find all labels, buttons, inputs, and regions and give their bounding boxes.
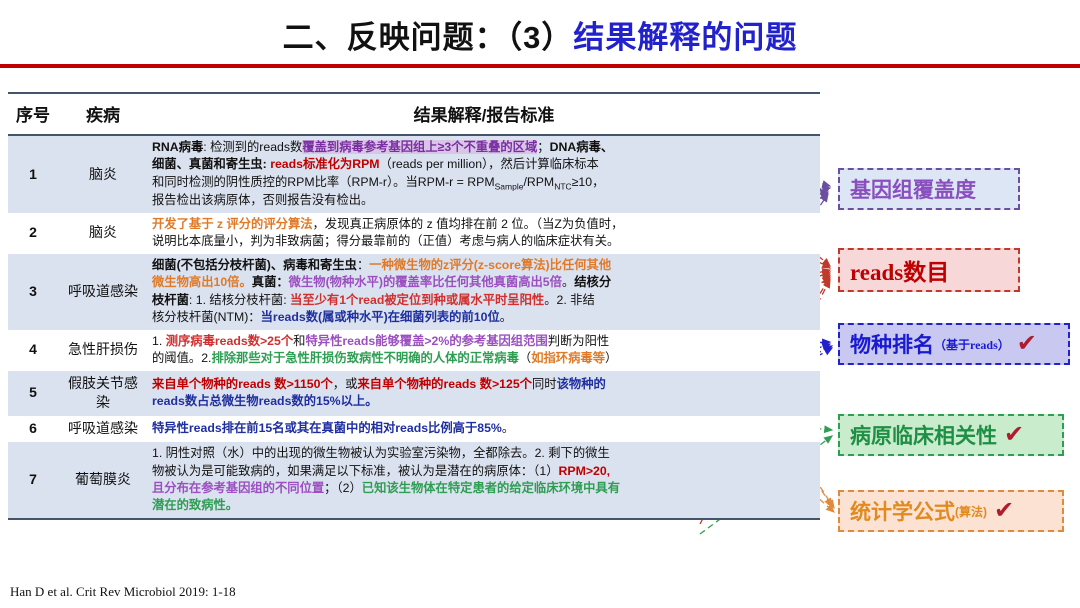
table-row: 6 呼吸道感染 特异性reads排在前15名或其在真菌中的相对reads比例高于… bbox=[8, 416, 820, 442]
header-criteria: 结果解释/报告标准 bbox=[148, 93, 820, 135]
citation-text: Han D et al. Crit Rev Microbiol 2019: 1-… bbox=[10, 584, 236, 600]
page-title-blue: 结果解释的问题 bbox=[573, 20, 797, 55]
header-disease: 疾病 bbox=[58, 93, 148, 135]
check-icon: ✔ bbox=[1017, 332, 1037, 356]
callout-label: 物种排名 bbox=[850, 329, 934, 359]
callout-statistical-formula[interactable]: 统计学公式 (算法) ✔ bbox=[838, 490, 1064, 532]
table-row: 3 呼吸道感染 细菌(不包括分枝杆菌)、病毒和寄生虫：一种微生物的z评分(z-s… bbox=[8, 254, 820, 330]
callout-label: 基因组覆盖度 bbox=[850, 174, 976, 204]
row-number: 2 bbox=[8, 213, 58, 254]
row-number: 1 bbox=[8, 135, 58, 213]
callout-reads-count[interactable]: reads数目 bbox=[838, 248, 1020, 292]
callout-suffix: （基于reads） bbox=[934, 336, 1010, 353]
row-number: 3 bbox=[8, 254, 58, 330]
callout-clinical-relevance[interactable]: 病原临床相关性 ✔ bbox=[838, 414, 1064, 456]
header-num: 序号 bbox=[8, 93, 58, 135]
callout-label: 病原临床相关性 bbox=[850, 420, 997, 450]
row-disease: 急性肝损伤 bbox=[58, 330, 148, 371]
row-number: 6 bbox=[8, 416, 58, 442]
table-row: 4 急性肝损伤 1. 测序病毒reads数>25个和特异性reads能够覆盖>2… bbox=[8, 330, 820, 371]
callout-label: reads数目 bbox=[850, 253, 949, 287]
table-row: 7 葡萄膜炎 1. 阴性对照（水）中的出现的微生物被认为实验室污染物，全都除去。… bbox=[8, 442, 820, 519]
page-header: 二、反映问题：（3）结果解释的问题 bbox=[0, 8, 1080, 60]
row-number: 5 bbox=[8, 371, 58, 417]
row-criteria: 开发了基于 z 评分的评分算法，发现真正病原体的 z 值均排在前 2 位。（当Z… bbox=[148, 213, 820, 254]
row-disease: 呼吸道感染 bbox=[58, 254, 148, 330]
row-criteria: RNA病毒: 检测到的reads数覆盖到病毒参考基因组上≥3个不重叠的区域；DN… bbox=[148, 135, 820, 213]
header-row: 序号 疾病 结果解释/报告标准 bbox=[8, 93, 820, 135]
callout-species-ranking[interactable]: 物种排名 （基于reads） ✔ bbox=[838, 323, 1070, 365]
table-row: 5 假肢关节感染 来自单个物种的reads 数>1150个，或来自单个物种的re… bbox=[8, 371, 820, 417]
row-disease: 葡萄膜炎 bbox=[58, 442, 148, 519]
row-number: 4 bbox=[8, 330, 58, 371]
table-row: 2 脑炎 开发了基于 z 评分的评分算法，发现真正病原体的 z 值均排在前 2 … bbox=[8, 213, 820, 254]
callout-label: 统计学公式 bbox=[850, 496, 955, 526]
check-icon: ✔ bbox=[994, 499, 1014, 523]
callout-suffix: (算法) bbox=[955, 503, 987, 520]
criteria-table-container: 序号 疾病 结果解释/报告标准 1 脑炎 RNA病毒: 检测到的reads数覆盖… bbox=[8, 92, 820, 520]
criteria-table: 序号 疾病 结果解释/报告标准 1 脑炎 RNA病毒: 检测到的reads数覆盖… bbox=[8, 92, 820, 520]
row-disease: 脑炎 bbox=[58, 135, 148, 213]
row-disease: 假肢关节感染 bbox=[58, 371, 148, 417]
row-criteria: 1. 测序病毒reads数>25个和特异性reads能够覆盖>2%的参考基因组范… bbox=[148, 330, 820, 371]
page-title-black: 二、反映问题：（3） bbox=[283, 20, 574, 55]
row-number: 7 bbox=[8, 442, 58, 519]
row-criteria: 1. 阴性对照（水）中的出现的微生物被认为实验室污染物，全都除去。2. 剩下的微… bbox=[148, 442, 820, 519]
callout-genome-coverage[interactable]: 基因组覆盖度 bbox=[838, 168, 1020, 210]
title-divider-rule bbox=[0, 64, 1080, 68]
page-title: 二、反映问题：（3）结果解释的问题 bbox=[283, 12, 798, 57]
row-disease: 呼吸道感染 bbox=[58, 416, 148, 442]
row-criteria: 来自单个物种的reads 数>1150个，或来自单个物种的reads 数>125… bbox=[148, 371, 820, 417]
row-disease: 脑炎 bbox=[58, 213, 148, 254]
table-row: 1 脑炎 RNA病毒: 检测到的reads数覆盖到病毒参考基因组上≥3个不重叠的… bbox=[8, 135, 820, 213]
row-criteria: 细菌(不包括分枝杆菌)、病毒和寄生虫：一种微生物的z评分(z-score算法)比… bbox=[148, 254, 820, 330]
row-criteria: 特异性reads排在前15名或其在真菌中的相对reads比例高于85%。 bbox=[148, 416, 820, 442]
check-icon: ✔ bbox=[1004, 423, 1024, 447]
table-head: 序号 疾病 结果解释/报告标准 bbox=[8, 93, 820, 135]
table-body: 1 脑炎 RNA病毒: 检测到的reads数覆盖到病毒参考基因组上≥3个不重叠的… bbox=[8, 135, 820, 519]
